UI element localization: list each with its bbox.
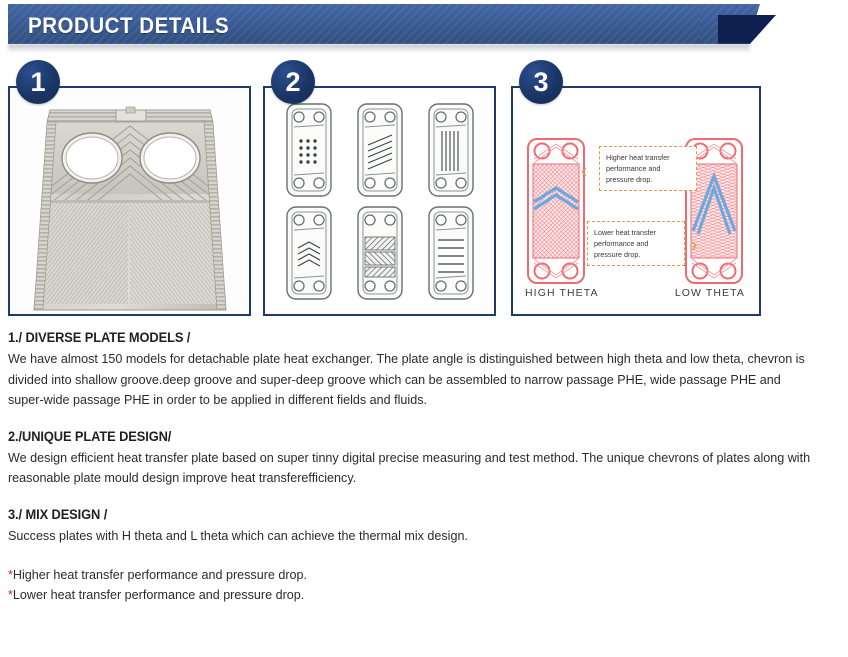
section-1-heading: 1./ DIVERSE PLATE MODELS / — [8, 330, 807, 345]
heat-exchanger-plate-image — [30, 96, 230, 314]
plate-model-dense-herringbone — [344, 201, 415, 304]
section-3-paragraph: Success plates with H theta and L theta … — [8, 526, 819, 547]
panel-badge-1: 1 — [16, 60, 60, 104]
banner-shadow — [8, 44, 750, 53]
section-mix-design: 3./ MIX DESIGN / Success plates with H t… — [8, 507, 840, 547]
plate-model-diagonal-lines — [344, 98, 415, 201]
callout-higher-performance: Higher heat transfer performance and pre… — [599, 146, 697, 191]
high-theta-plate-diagram — [525, 136, 587, 286]
section-diverse-plate-models: 1./ DIVERSE PLATE MODELS / We have almos… — [8, 330, 840, 411]
callout-arrow-right-icon: › — [691, 236, 697, 255]
section-2-heading: 2./UNIQUE PLATE DESIGN/ — [8, 429, 807, 444]
high-theta-label: HIGH THETA — [525, 287, 599, 299]
section-3-heading: 3./ MIX DESIGN / — [8, 507, 807, 522]
footnote-lower: *Lower heat transfer performance and pre… — [8, 585, 819, 606]
footnote-higher-text: Higher heat transfer performance and pre… — [13, 567, 307, 582]
callout-lower-performance: Lower heat transfer performance and pres… — [587, 221, 685, 266]
footnote-higher: *Higher heat transfer performance and pr… — [8, 565, 819, 586]
footnote-lower-text: Lower heat transfer performance and pres… — [13, 587, 304, 602]
theta-comparison-panel: Higher heat transfer performance and pre… — [511, 86, 761, 316]
section-1-paragraph: We have almost 150 models for detachable… — [8, 349, 819, 411]
plate-model-dimple-dots — [273, 98, 344, 201]
footnotes: *Higher heat transfer performance and pr… — [8, 565, 840, 606]
panel-badge-3: 3 — [519, 60, 563, 104]
plate-photo — [10, 88, 249, 314]
page-banner: PRODUCT DETAILS — [0, 4, 848, 48]
page-title: PRODUCT DETAILS — [28, 13, 229, 39]
low-theta-label: LOW THETA — [675, 287, 745, 299]
plate-photo-panel — [8, 86, 251, 316]
plate-models-grid — [265, 88, 494, 314]
panel-badge-2: 2 — [271, 60, 315, 104]
plate-model-vertical-lines — [415, 98, 486, 201]
plate-model-horizontal-lines — [415, 201, 486, 304]
theta-diagram-area: Higher heat transfer performance and pre… — [513, 88, 759, 314]
section-2-paragraph: We design efficient heat transfer plate … — [8, 448, 819, 489]
plate-model-shallow-chevron — [273, 201, 344, 304]
section-unique-plate-design: 2./UNIQUE PLATE DESIGN/ We design effici… — [8, 429, 840, 489]
callout-arrow-left-icon: ‹ — [581, 162, 587, 181]
plate-models-panel — [263, 86, 496, 316]
panel-row: 1 2 3 — [0, 60, 848, 322]
description-body: 1./ DIVERSE PLATE MODELS / We have almos… — [8, 330, 840, 606]
